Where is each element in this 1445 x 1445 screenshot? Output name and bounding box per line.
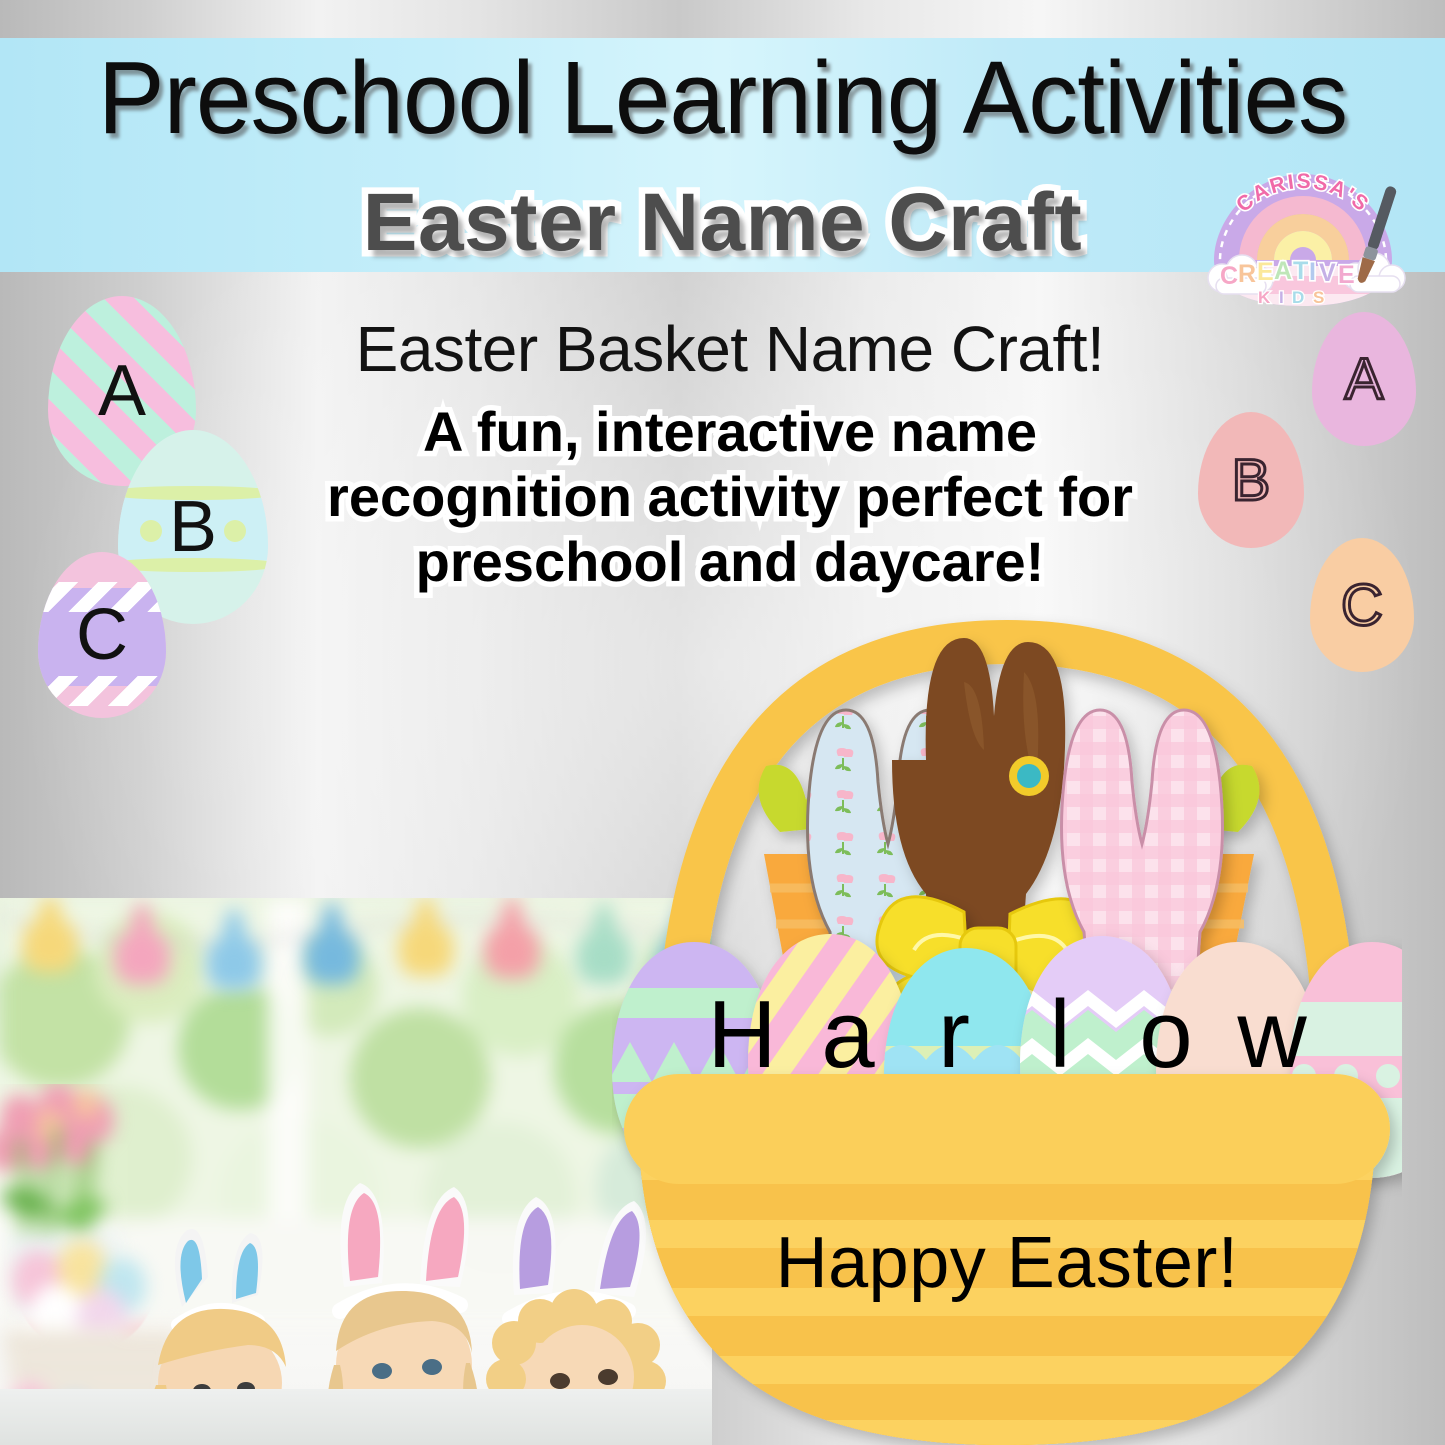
egg-letter-traceable: A (1345, 346, 1384, 413)
svg-text:S: S (1313, 288, 1328, 307)
svg-text:A: A (1274, 257, 1292, 285)
description-line-2: recognition activity perfect for (250, 465, 1210, 530)
alphabet-egg-b-right: B (1198, 412, 1304, 548)
three-children-photo (0, 898, 712, 1445)
easter-basket-name-craft (612, 612, 1402, 1445)
alphabet-egg-a-right: A (1312, 312, 1416, 446)
egg-letter-traceable: C (1341, 572, 1383, 639)
lead-text: Easter Basket Name Craft! (250, 312, 1210, 386)
description-line-1: A fun, interactive name (250, 400, 1210, 465)
egg-letter: B (169, 486, 217, 568)
page-title: Preschool Learning Activities (22, 44, 1424, 152)
happy-easter-text: Happy Easter! (612, 1222, 1402, 1304)
egg-letter: A (98, 350, 146, 432)
svg-text:V: V (1319, 259, 1336, 287)
egg-dot (224, 520, 246, 542)
svg-text:R: R (1238, 260, 1256, 288)
alphabet-egg-c-right: C (1310, 538, 1414, 672)
description-line-3: preschool and daycare! (250, 530, 1210, 595)
egg-letter-traceable: B (1232, 447, 1271, 514)
page-subtitle: Easter Name Craft (363, 176, 1082, 270)
svg-text:D: D (1292, 288, 1308, 307)
egg-chevron (38, 676, 166, 706)
egg-letter: C (76, 594, 128, 676)
svg-text:I: I (1279, 288, 1288, 307)
svg-text:I: I (1309, 258, 1316, 286)
svg-text:T: T (1293, 257, 1308, 285)
svg-text:K: K (1258, 288, 1274, 307)
egg-dot (140, 520, 162, 542)
svg-text:E: E (1338, 261, 1355, 289)
photo-table-surface (0, 1389, 712, 1445)
svg-text:C: C (1220, 262, 1238, 290)
poster-canvas: H a r l o w Happy Easter! A B C A B C Pr… (0, 0, 1445, 1445)
bunny-bunting-decoration (0, 898, 712, 1058)
brand-logo[interactable]: CARISSA'S C R E A T I V E K I D S (1196, 172, 1410, 308)
description-text: A fun, interactive name recognition acti… (250, 400, 1210, 595)
svg-text:E: E (1257, 258, 1274, 286)
